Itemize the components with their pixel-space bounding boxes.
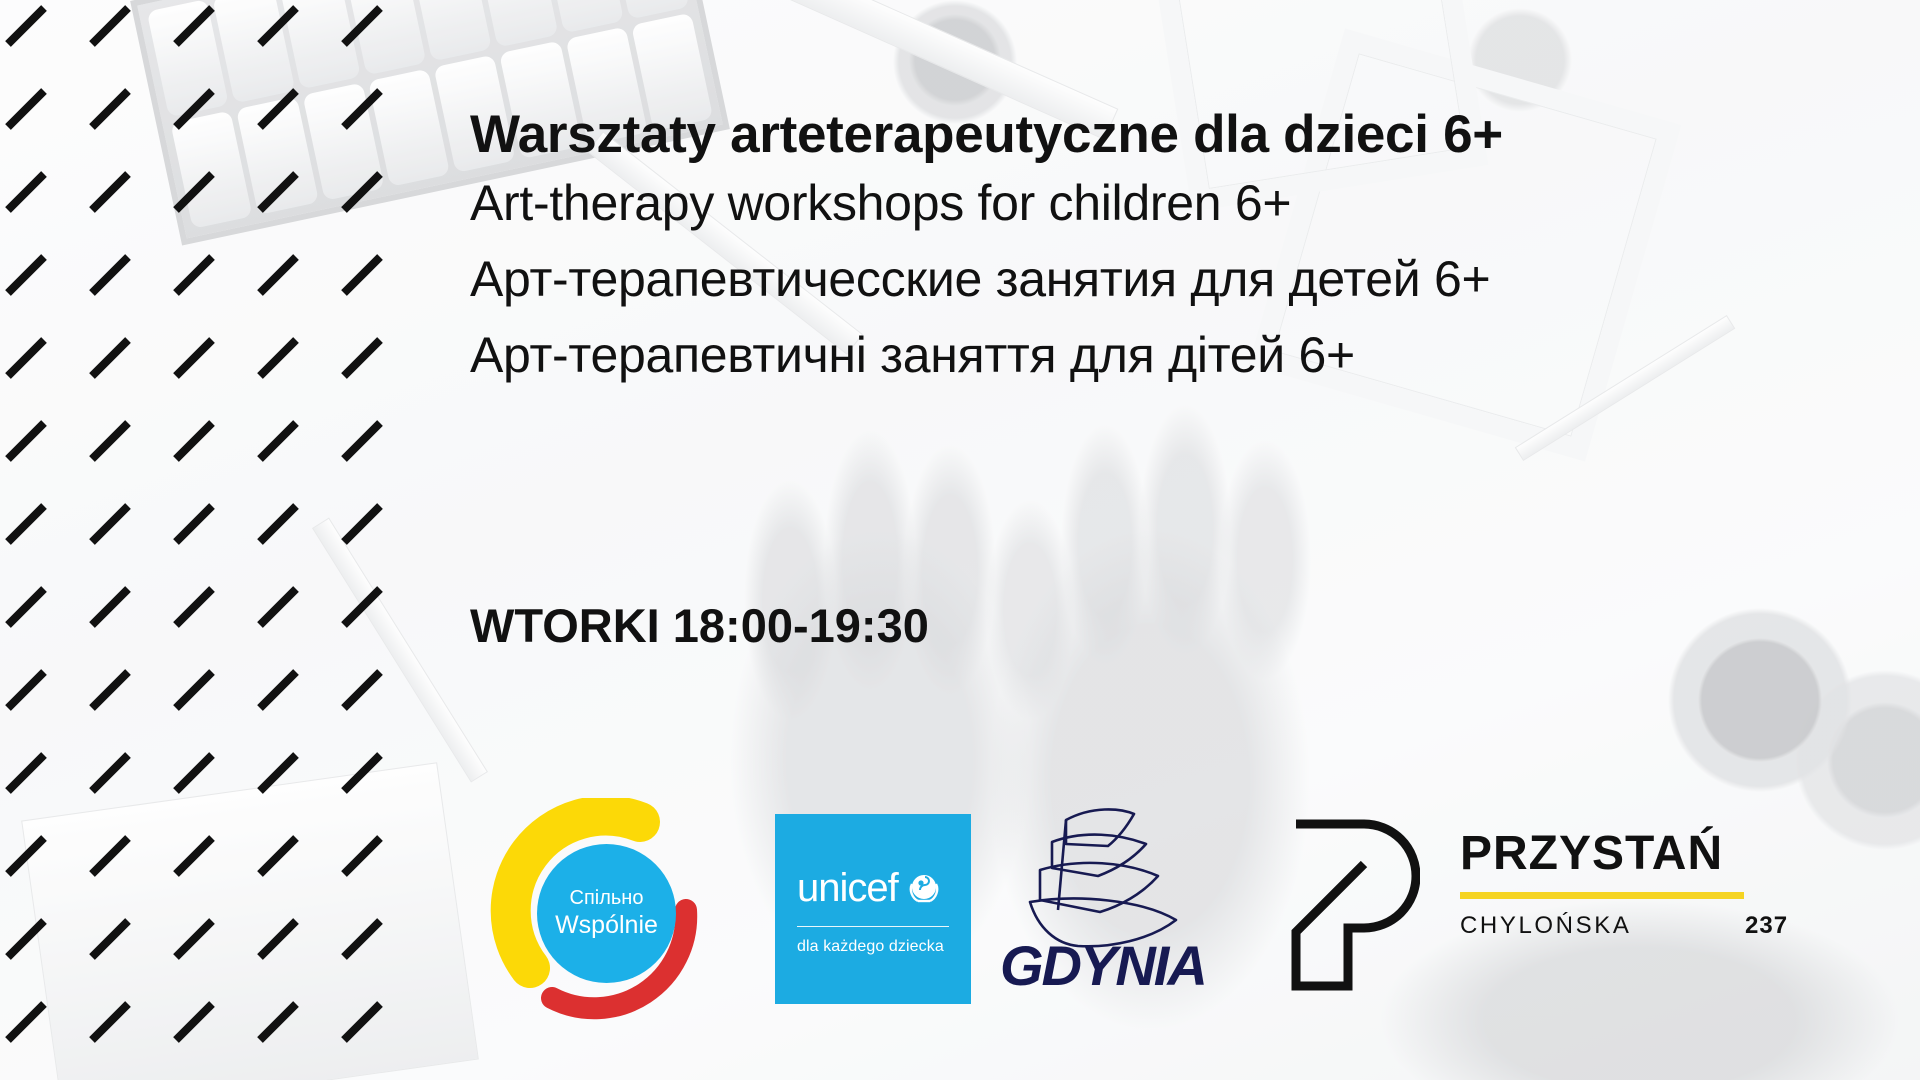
unicef-divider [797, 926, 949, 927]
przystan-chylonska-logo[interactable]: PRZYSTAŃ CHYLOŃSKA 237 [1290, 800, 1810, 1020]
gdynia-logo[interactable]: GDYNIA [1000, 798, 1230, 1018]
przystan-wordmark: PRZYSTAŃ [1460, 830, 1723, 878]
spilno-label-uk: Спільно [570, 887, 644, 911]
unicef-tagline: dla każdego dziecka [797, 938, 944, 956]
schedule-text: WTORKI 18:00-19:30 [470, 598, 929, 653]
diagonal-slash-pattern [0, 0, 424, 1080]
unicef-wordmark: unicef [797, 868, 898, 908]
headline-polish: Warsztaty arteterapeutyczne dla dzieci 6… [470, 104, 1890, 165]
headline-ukrainian: Арт-терапевтичні заняття для дітей 6+ [470, 317, 1890, 393]
headline-block: Warsztaty arteterapeutyczne dla dzieci 6… [470, 104, 1890, 393]
gdynia-wordmark: GDYNIA [1000, 938, 1206, 994]
unicef-wordmark-row: unicef [797, 868, 944, 908]
przystan-p-monogram-icon [1290, 814, 1420, 994]
spilno-label-pl: Wspólnie [555, 911, 658, 941]
przystan-yellow-rule [1460, 892, 1744, 899]
unicef-logo[interactable]: unicef dla każdego dziecka [775, 814, 971, 1004]
poster-canvas: Warsztaty arteterapeutyczne dla dzieci 6… [0, 0, 1920, 1080]
przystan-number: 237 [1745, 912, 1788, 940]
logo-strip: Спільно Wspólnie unicef dla każdego dzi [470, 784, 1810, 1034]
przystan-street: CHYLOŃSKA [1460, 912, 1631, 940]
unicef-emblem-icon [904, 868, 944, 908]
headline-russian: Арт-терапевтичесские занятия для детей 6… [470, 241, 1890, 317]
spilno-wspolnie-logo[interactable]: Спільно Wspólnie [490, 798, 720, 1028]
headline-english: Art-therapy workshops for children 6+ [470, 165, 1890, 241]
spilno-core-circle: Спільно Wspólnie [537, 844, 676, 983]
